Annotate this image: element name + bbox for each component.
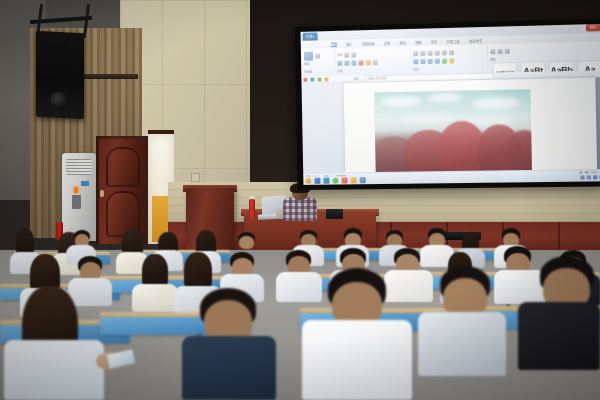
select-icon[interactable] <box>505 48 510 53</box>
navigation-pane[interactable] <box>302 83 347 173</box>
align-left-icon[interactable] <box>413 59 418 64</box>
cloud-3 <box>472 97 520 110</box>
tray-volume-icon[interactable] <box>587 175 591 179</box>
clipboard-group-sub: 剪贴板 <box>304 70 312 74</box>
paste-icon[interactable] <box>304 51 313 60</box>
italic-icon[interactable] <box>344 60 349 65</box>
font-color-icon[interactable] <box>358 60 363 65</box>
ac-vent <box>66 159 92 175</box>
accept-icon[interactable] <box>317 77 321 81</box>
font-name-box[interactable]: 宋体 <box>337 53 342 57</box>
door-knob[interactable] <box>100 190 104 197</box>
presenter-torso <box>283 197 317 221</box>
document-tab[interactable]: 文档1 <box>303 32 318 40</box>
comment-icon[interactable] <box>303 78 307 82</box>
bullet-list-icon[interactable] <box>413 50 418 55</box>
taskbar-tray <box>580 175 600 179</box>
black-device <box>326 209 343 219</box>
hanging-speaker-icon <box>36 31 84 120</box>
reject-icon[interactable] <box>324 77 328 81</box>
ribbon-tab-member[interactable]: 会员专享 <box>469 38 482 43</box>
underline-icon[interactable] <box>351 60 356 65</box>
ribbon-tab-review[interactable]: 审阅 <box>399 40 406 45</box>
shading-icon[interactable] <box>449 58 454 63</box>
increase-indent-icon[interactable] <box>442 50 447 55</box>
ribbon-tab-page-layout[interactable]: 页面布局 <box>362 40 375 45</box>
cloud-1 <box>380 95 421 107</box>
ribbon-tab-references[interactable]: 引用 <box>384 40 391 45</box>
ribbon-tab-view[interactable]: 视图 <box>415 39 422 44</box>
find-icon[interactable] <box>490 49 495 54</box>
track-changes-icon[interactable] <box>310 78 314 82</box>
ribbon-tab-insert[interactable]: 插入 <box>346 41 353 46</box>
ribbon-tab-developer[interactable]: 开发工具 <box>447 38 460 43</box>
taskbar-media-player-icon[interactable] <box>332 177 338 183</box>
tray-network-icon[interactable] <box>580 175 584 179</box>
wall-socket <box>191 173 200 182</box>
multilevel-list-icon[interactable] <box>427 50 432 55</box>
taskbar-ime-icon[interactable] <box>360 177 366 183</box>
speaker-cone <box>50 91 68 110</box>
cloud-4 <box>401 113 454 124</box>
close-icon[interactable]: × <box>319 32 321 40</box>
save-button[interactable]: 保存 <box>585 24 600 31</box>
red-bottle-icon <box>249 199 255 219</box>
cut-icon[interactable] <box>315 53 320 58</box>
projected-desktop: 文档1 × 保存 开始 插入 页面布局 引用 审阅 视图 章节 开发工具 会员专… <box>301 24 600 185</box>
document-workspace: 小园新种红樱树 闲绕芳行便当游 <box>302 77 600 173</box>
paragraph-group-sub: 段落 <box>413 67 419 71</box>
font-group-sub: 字体 <box>337 69 342 73</box>
taskbar-excel-icon[interactable] <box>323 178 329 184</box>
clipboard-group-label: 粘贴 <box>304 62 309 66</box>
editing-group-sub: 编辑 <box>490 57 496 61</box>
taskbar-chat-icon[interactable] <box>341 177 347 183</box>
font-size-box[interactable] <box>352 52 357 57</box>
tray-clock-icon[interactable] <box>593 175 597 179</box>
ribbon-group-font: 宋体 字体 <box>335 47 411 73</box>
ribbon-group-clipboard: 粘贴 剪贴板 <box>302 49 336 74</box>
bold-icon[interactable] <box>337 60 342 65</box>
replace-icon[interactable] <box>497 48 502 53</box>
ac-power-led <box>74 187 78 193</box>
taskbar-browser-icon[interactable] <box>305 178 311 184</box>
ribbon-tab-home[interactable]: 开始 <box>331 41 338 47</box>
door[interactable] <box>99 139 145 244</box>
cloud-2 <box>427 93 462 103</box>
comment-bar-label: 批注 <box>354 77 360 81</box>
lecture-hall-photo: 文档1 × 保存 开始 插入 页面布局 引用 审阅 视图 章节 开发工具 会员专… <box>0 0 600 400</box>
taskbar-folder-icon[interactable] <box>351 177 357 183</box>
ribbon-tab-section[interactable]: 章节 <box>431 39 438 44</box>
tree-blob-5 <box>506 130 532 175</box>
chevron-down-icon[interactable] <box>344 52 349 57</box>
numbered-list-icon[interactable] <box>420 50 425 55</box>
align-right-icon[interactable] <box>427 58 432 63</box>
clear-format-icon[interactable] <box>373 60 378 65</box>
ac-control-panel <box>72 195 81 209</box>
projection-screen-frame: 文档1 × 保存 开始 插入 页面布局 引用 审阅 视图 章节 开发工具 会员专… <box>294 19 600 190</box>
ac-badge <box>81 181 89 186</box>
justify-icon[interactable] <box>435 58 440 63</box>
highlight-icon[interactable] <box>365 60 370 65</box>
ribbon-group-paragraph: 段落 <box>411 45 489 71</box>
sort-icon[interactable] <box>449 50 454 55</box>
align-center-icon[interactable] <box>420 58 425 63</box>
decrease-indent-icon[interactable] <box>434 50 439 55</box>
door-panel-upper <box>106 147 140 187</box>
air-conditioner-icon <box>62 153 96 241</box>
taskbar-word-icon[interactable] <box>314 178 320 184</box>
document-photo[interactable] <box>374 89 532 175</box>
document-page[interactable]: 小园新种红樱树 闲绕芳行便当游 <box>344 78 597 173</box>
line-spacing-icon[interactable] <box>442 58 447 63</box>
